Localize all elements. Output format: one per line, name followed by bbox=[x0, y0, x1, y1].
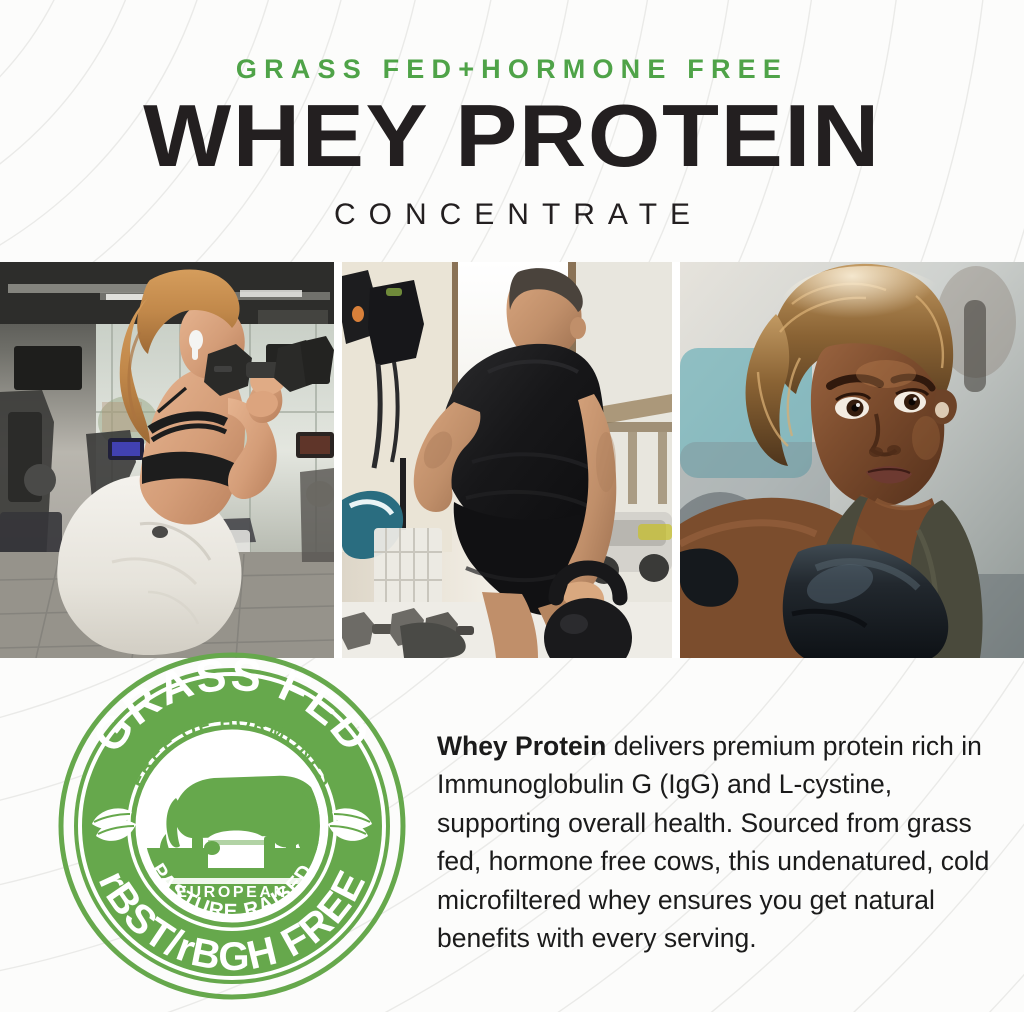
whey-protein-poster: GRASS FED+HORMONE FREE WHEY PROTEIN CONC… bbox=[0, 0, 1024, 1012]
description-lead: Whey Protein bbox=[437, 731, 606, 761]
product-description: Whey Protein delivers premium protein ri… bbox=[437, 727, 1007, 958]
photo-strip bbox=[0, 262, 1024, 658]
poster-header: GRASS FED+HORMONE FREE WHEY PROTEIN CONC… bbox=[0, 0, 1024, 262]
header-subtitle: CONCENTRATE bbox=[0, 198, 1024, 232]
photo-woman-boxing bbox=[680, 262, 1024, 658]
header-eyebrow: GRASS FED+HORMONE FREE bbox=[0, 54, 1024, 85]
photo-woman-dumbbell-squat bbox=[0, 262, 334, 658]
photo-man-kettlebell bbox=[342, 262, 672, 658]
page-title: WHEY PROTEIN bbox=[0, 92, 1024, 180]
description-text: delivers premium protein rich in Immunog… bbox=[437, 731, 989, 954]
grass-fed-badge: EUROPEAN FREE OF HORMONES PASTURE RAISED… bbox=[58, 652, 406, 1000]
